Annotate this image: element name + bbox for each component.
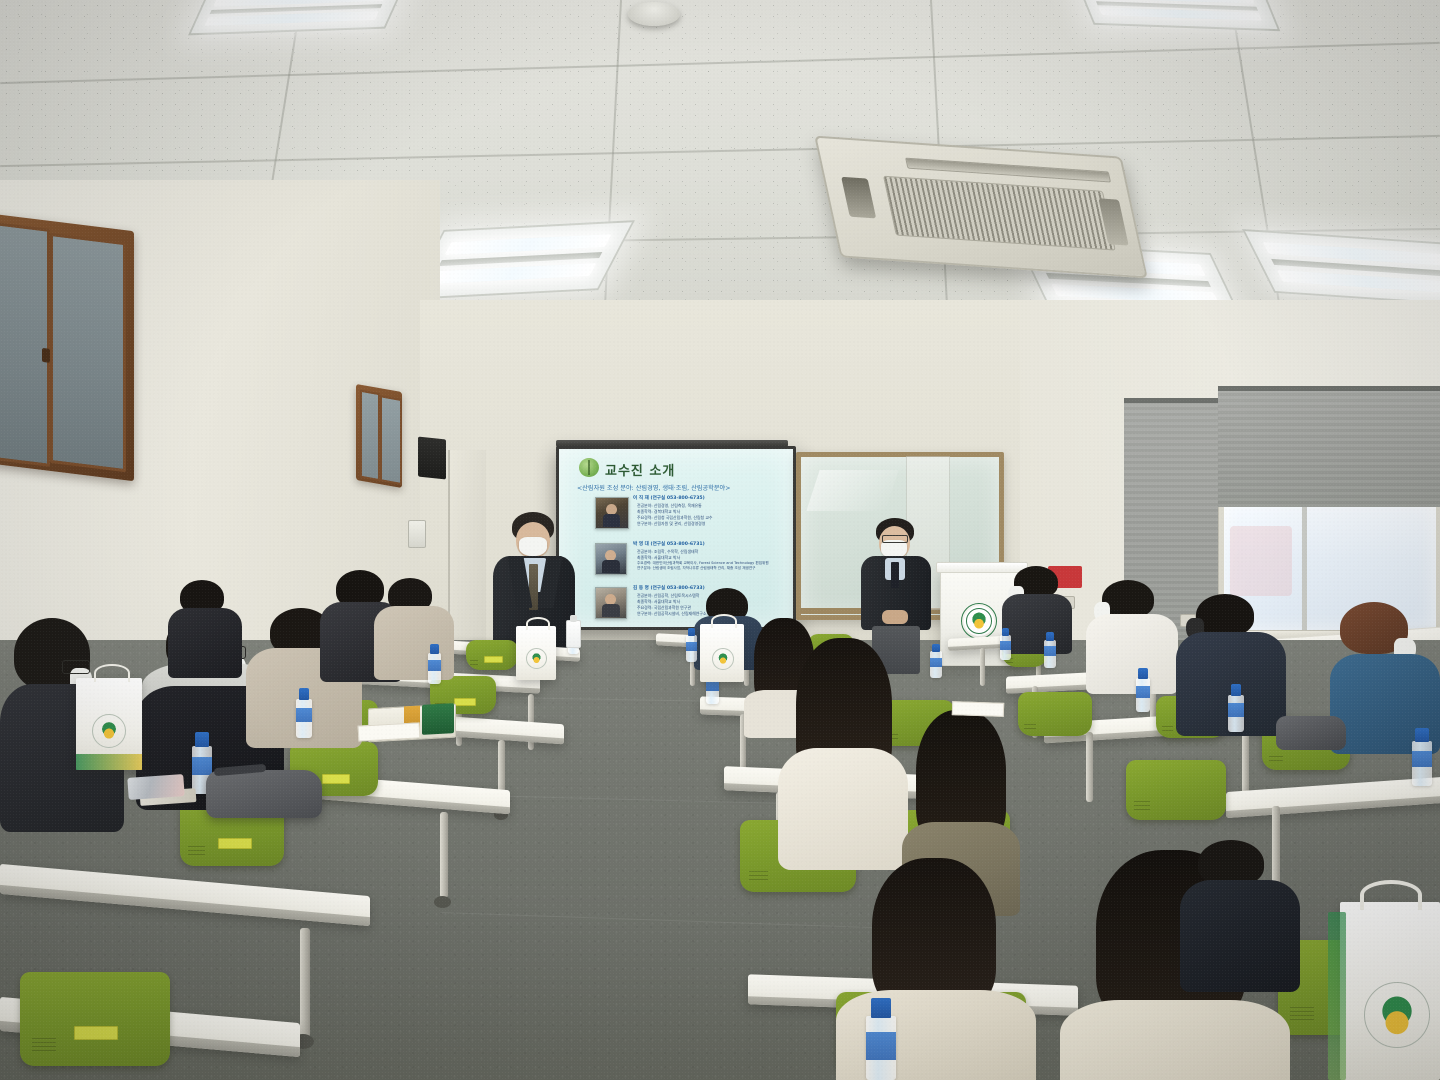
university-emblem-icon xyxy=(961,603,997,639)
water-bottle[interactable] xyxy=(296,688,312,738)
audience-member xyxy=(1002,566,1072,652)
water-bottle[interactable] xyxy=(428,644,441,684)
wall-intercom[interactable] xyxy=(408,520,426,548)
professor-name-1: 이 직 재 (연구실 053-800-6735) xyxy=(633,495,705,501)
professor-detail: 연구분야: 산림생태 조림사업, 자작나무류 산림생태학 관리, 채종 조성 재… xyxy=(637,567,769,571)
water-bottle[interactable] xyxy=(1228,684,1244,732)
slide-subtitle: <산림자원 조성 분야: 산림경영, 생태·조림, 산림공학분야> xyxy=(577,483,730,492)
water-bottle[interactable] xyxy=(1000,628,1011,660)
university-emblem-icon xyxy=(92,714,126,748)
lecture-hall-photo: 교수진 소개 <산림자원 조성 분야: 산림경영, 생태·조림, 산림공학분야>… xyxy=(0,0,1440,1080)
asset-tag-sticker xyxy=(218,838,252,849)
asset-tag-sticker xyxy=(454,698,476,706)
box-graphic xyxy=(422,703,454,735)
university-gift-paper-bag[interactable] xyxy=(1340,902,1440,1080)
university-gift-paper-bag[interactable] xyxy=(700,624,744,682)
eyeglasses xyxy=(882,535,908,543)
university-emblem-icon xyxy=(526,648,547,669)
professor-photo-2 xyxy=(595,543,627,575)
torso xyxy=(1180,880,1300,992)
hair xyxy=(1196,594,1254,636)
torso xyxy=(1002,594,1072,654)
desk-leg xyxy=(980,648,985,686)
green-tree-logo-icon xyxy=(579,458,599,477)
water-bottle[interactable] xyxy=(1136,668,1150,712)
university-emblem-icon xyxy=(1364,982,1430,1048)
roller-blind[interactable] xyxy=(1218,386,1440,507)
documents-on-desk[interactable] xyxy=(952,701,1004,717)
desk-leg xyxy=(1242,728,1249,798)
hair xyxy=(872,858,996,1012)
desk-leg xyxy=(1086,732,1093,802)
audience-member xyxy=(374,578,454,678)
fleece-jacket xyxy=(1086,614,1178,694)
professor-detail: 전공분야: 조림학, 수목학, 산림생태학 xyxy=(637,550,769,554)
asset-tag-sticker xyxy=(322,774,350,784)
classroom-chair[interactable] xyxy=(1126,760,1226,830)
clasped-hands xyxy=(882,610,908,624)
professor-name-2: 박 영 대 (연구실 053-800-6731) xyxy=(633,541,705,547)
wooden-window-frame xyxy=(0,213,134,481)
snack-package[interactable] xyxy=(127,774,184,800)
asset-tag-sticker xyxy=(74,1026,118,1040)
documents-on-desk[interactable] xyxy=(358,722,421,741)
professor-detail: 최종학력: 서울대학교 박사 xyxy=(637,556,769,560)
university-gift-paper-bag[interactable] xyxy=(76,678,142,770)
water-bottle[interactable] xyxy=(1044,632,1056,668)
professor-detail: 주요경력: 산림청 국립산림과학원, 산림청 교수 xyxy=(637,516,713,520)
backpack[interactable] xyxy=(206,770,322,818)
ceiling-smoke-detector xyxy=(628,2,680,26)
classroom-chair[interactable] xyxy=(20,972,170,1080)
professor-photo-3 xyxy=(595,587,627,619)
dark-tie xyxy=(891,562,899,588)
water-bottle[interactable] xyxy=(866,998,896,1080)
professor-detail: 연구분야: 산림자원 및 관리, 산림경영경영 xyxy=(637,522,713,526)
university-emblem-icon xyxy=(712,648,734,670)
face-mask xyxy=(519,537,547,556)
professor-detail: 최종학력: 경북대학교 박사 xyxy=(637,510,713,514)
wooden-window-frame-small xyxy=(356,384,402,488)
wall-mounted-box xyxy=(418,437,446,480)
eyeglasses xyxy=(62,660,90,674)
torso xyxy=(374,606,454,680)
water-bottle[interactable] xyxy=(1412,728,1432,786)
asset-tag-sticker xyxy=(484,656,503,663)
audience-member xyxy=(1180,840,1300,990)
desk-leg xyxy=(440,812,448,898)
torso xyxy=(168,608,242,678)
professor-detail: 전공분야: 산림경영, 산림측정, 목재유통 xyxy=(637,504,713,508)
desk-caster xyxy=(434,896,451,908)
professor-photo-1 xyxy=(595,497,629,529)
professor-detail: 주요경력: 대한민국산림과학회 교육이사, Forest Science and… xyxy=(637,562,769,566)
ceiling-air-conditioner xyxy=(814,136,1148,279)
classroom-chair[interactable] xyxy=(466,640,518,674)
sweater xyxy=(1060,1000,1290,1080)
water-bottle[interactable] xyxy=(930,644,942,678)
puffer-jacket xyxy=(778,748,908,870)
audience-member xyxy=(168,580,242,676)
audience-member xyxy=(1086,580,1178,692)
water-bottle[interactable] xyxy=(686,628,697,662)
desk-leg xyxy=(300,928,310,1038)
slide-title: 교수진 소개 xyxy=(605,460,675,479)
backpack[interactable] xyxy=(1276,716,1346,750)
university-gift-paper-bag[interactable] xyxy=(516,626,556,680)
classroom-chair[interactable] xyxy=(1018,692,1092,742)
hand-sanitizer[interactable] xyxy=(566,620,581,648)
audience-member-long-hair xyxy=(778,638,908,868)
